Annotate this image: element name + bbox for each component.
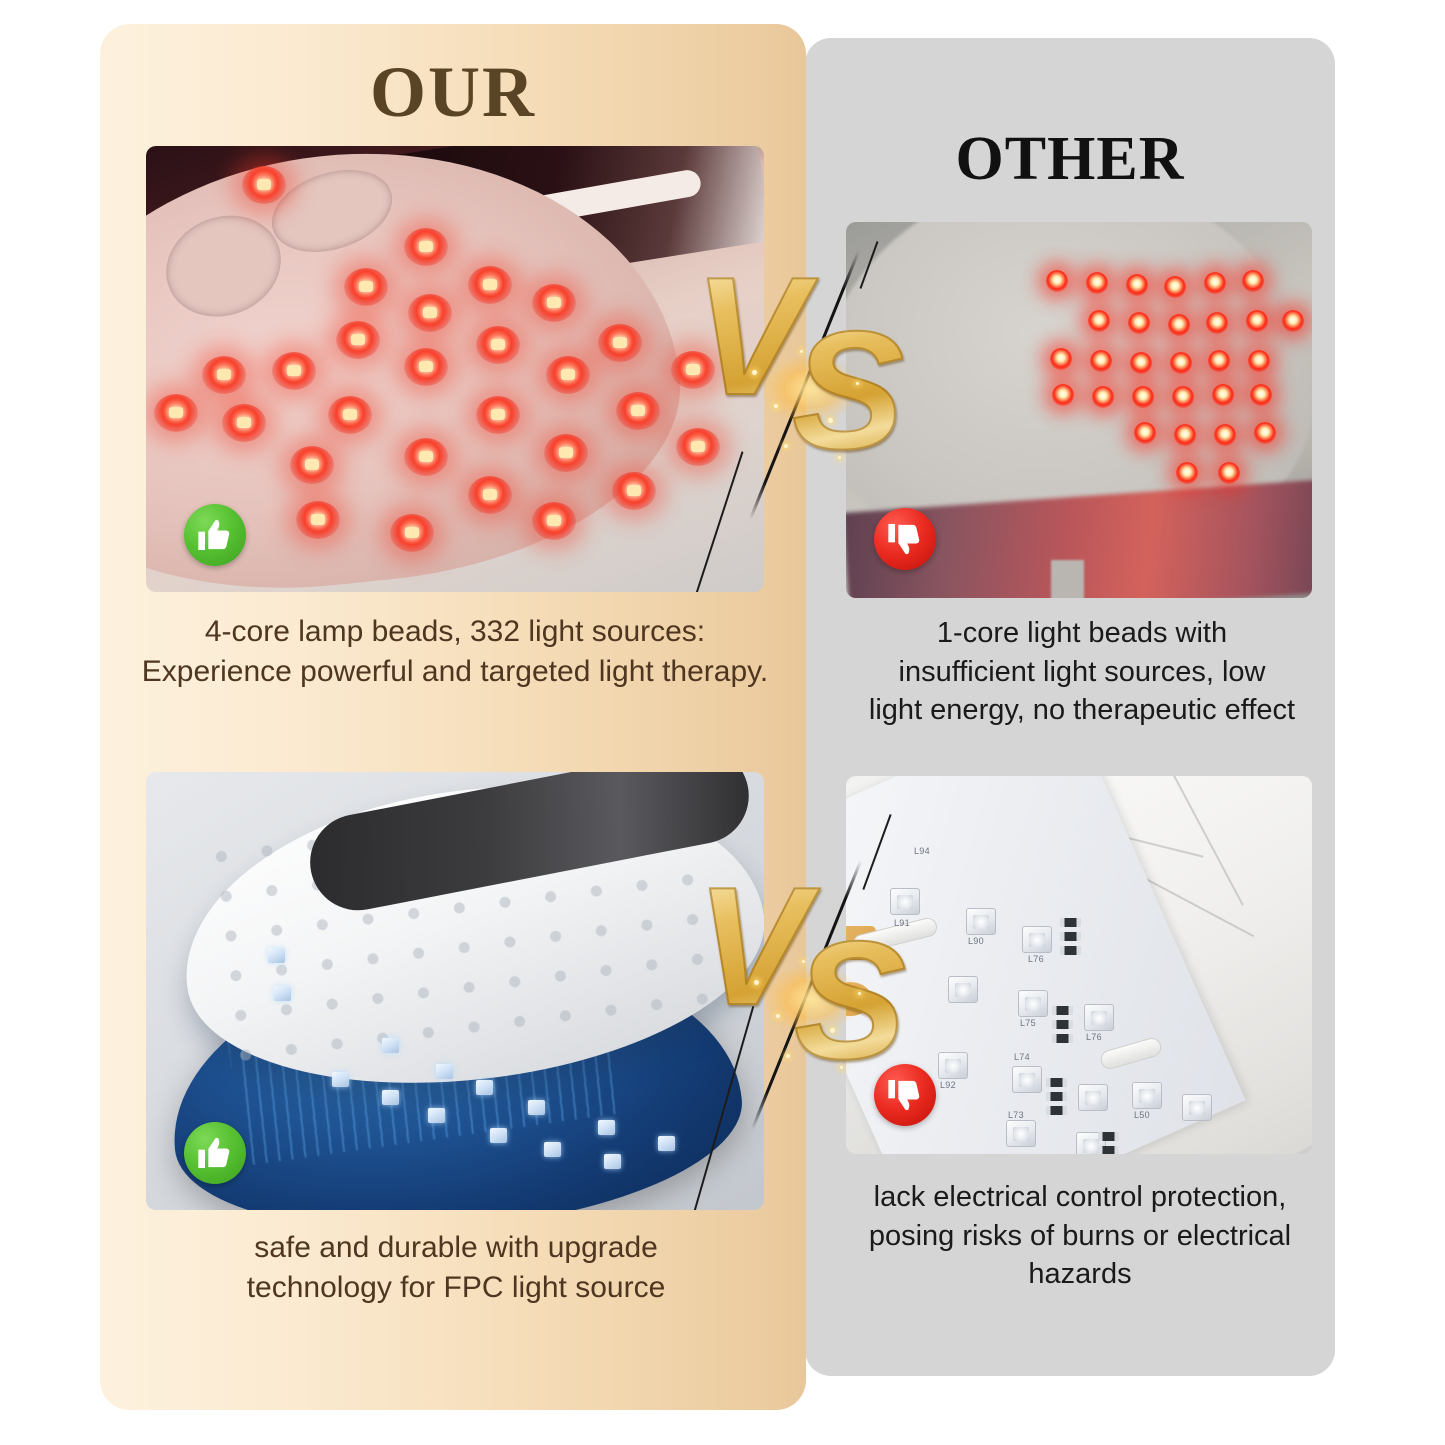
thumbs-down-icon bbox=[874, 508, 936, 570]
other-caption-1: 1-core light beads with insufficient lig… bbox=[832, 614, 1332, 730]
vs-badge-top: V S bbox=[688, 258, 918, 498]
pcb-label: L50 bbox=[1134, 1110, 1150, 1120]
pcb-label: L76 bbox=[1086, 1032, 1102, 1042]
pcb-label: L76 bbox=[1028, 954, 1044, 964]
pcb-label: L90 bbox=[968, 936, 984, 946]
our-caption-2: safe and durable with upgrade technology… bbox=[146, 1228, 766, 1307]
caption-line: 4-core lamp beads, 332 light sources: bbox=[110, 612, 800, 652]
caption-line: insufficient light sources, low bbox=[832, 653, 1332, 692]
caption-line: technology for FPC light source bbox=[146, 1268, 766, 1308]
caption-line: hazards bbox=[830, 1255, 1330, 1294]
other-title: OTHER bbox=[805, 128, 1335, 190]
other-caption-2: lack electrical control protection, posi… bbox=[830, 1178, 1330, 1294]
pcb-label: L74 bbox=[1014, 1052, 1030, 1062]
caption-line: Experience powerful and targeted light t… bbox=[110, 652, 800, 692]
pcb-label: L73 bbox=[1008, 1110, 1024, 1120]
caption-line: posing risks of burns or electrical bbox=[830, 1217, 1330, 1256]
caption-line: 1-core light beads with bbox=[832, 614, 1332, 653]
thumbs-up-icon bbox=[184, 1122, 246, 1184]
thumbs-up-icon bbox=[184, 504, 246, 566]
pcb-label: L92 bbox=[940, 1080, 956, 1090]
our-caption-1: 4-core lamp beads, 332 light sources: Ex… bbox=[110, 612, 800, 691]
caption-line: safe and durable with upgrade bbox=[146, 1228, 766, 1268]
pcb-label: L94 bbox=[914, 846, 930, 856]
our-title: OUR bbox=[100, 56, 806, 128]
vs-letter-s: S bbox=[794, 916, 920, 1108]
vs-badge-bottom: V S bbox=[690, 868, 920, 1108]
caption-line: lack electrical control protection, bbox=[830, 1178, 1330, 1217]
vs-letter-s: S bbox=[792, 306, 918, 498]
comparison-infographic: OUR OTHER bbox=[0, 0, 1445, 1445]
caption-line: light energy, no therapeutic effect bbox=[832, 691, 1332, 730]
pcb-label: L75 bbox=[1020, 1018, 1036, 1028]
